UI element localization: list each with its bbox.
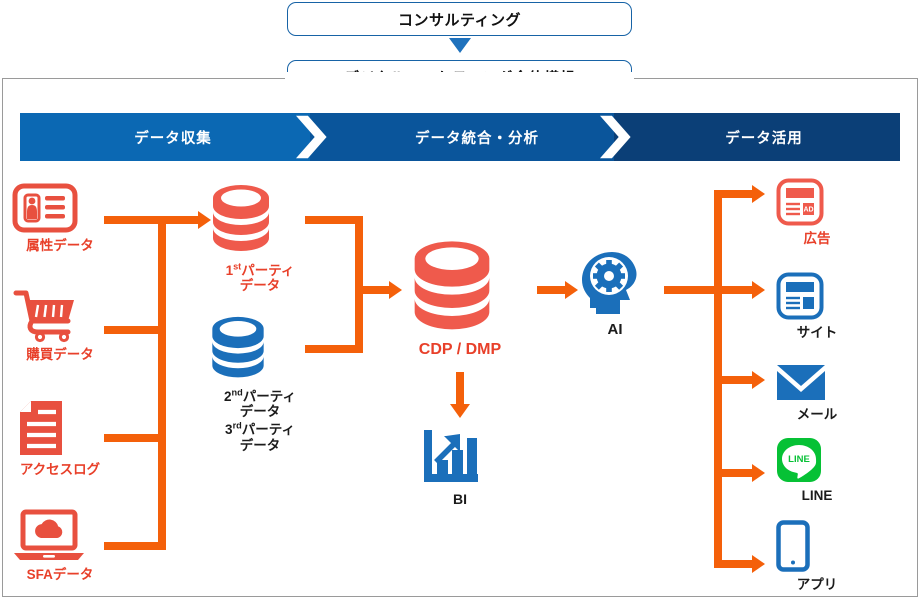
connector-sfa-stub (104, 542, 166, 550)
connector-left-bus (158, 216, 166, 550)
output-label-mail: メール (776, 407, 858, 423)
connector-purchase-stub (104, 326, 166, 334)
source-node-accesslog: アクセスログ (12, 399, 108, 478)
source-label-attribute: 属性データ (12, 238, 108, 254)
hub-node-cdp-dmp: CDP / DMP (404, 240, 516, 360)
ai-node: AI (576, 250, 654, 339)
id-card-icon (12, 183, 78, 233)
output-node-site: サイト (776, 272, 858, 341)
shopping-cart-icon (12, 288, 84, 342)
phase-banner: データ収集 データ統合・分析 データ活用 (20, 113, 900, 161)
source-label-purchase: 購買データ (12, 347, 108, 363)
store-line-2: データ (240, 404, 281, 419)
source-label-sfa: SFAデータ (12, 567, 108, 583)
store-label-2nd-3rd-party: 2ndパーティ データ 3rdパーティ データ (205, 387, 315, 454)
chevron-separator-2-icon (600, 113, 634, 161)
ad-banner-icon: AD (776, 178, 824, 226)
arrow-into-ad (752, 185, 765, 203)
output-label-app: アプリ (776, 577, 858, 593)
store-label-1st-party: 1stパーティ データ (205, 261, 315, 294)
bi-node: BI (420, 428, 500, 508)
bi-label: BI (420, 491, 500, 508)
phase-label-3: データ活用 (725, 127, 803, 148)
arrow-into-ai (565, 281, 578, 299)
output-node-app: アプリ (776, 520, 858, 593)
store-node-1st-party: 1stパーティ データ (205, 184, 315, 294)
output-node-ad: AD 広告 (776, 178, 858, 247)
smartphone-icon (776, 520, 810, 572)
arrow-into-1st-party (198, 211, 211, 229)
ai-head-gear-icon (576, 250, 650, 316)
frame-notch (285, 72, 634, 84)
connector-out-ad (714, 190, 756, 198)
source-label-accesslog: アクセスログ (12, 462, 108, 478)
line-app-icon: LINE (776, 437, 822, 483)
phase-data-integration: データ統合・分析 (310, 113, 630, 161)
phase-data-utilization: データ活用 (614, 113, 900, 161)
phase-label-2: データ統合・分析 (415, 127, 539, 148)
consulting-label: コンサルティング (398, 9, 521, 30)
connector-store-bus (355, 216, 363, 353)
arrow-into-app (752, 555, 765, 573)
connector-out-app (714, 560, 756, 568)
output-label-site: サイト (776, 325, 858, 341)
consulting-box: コンサルティング (287, 2, 632, 36)
database-cylinder-icon (205, 316, 271, 382)
arrow-into-line (752, 464, 765, 482)
database-cylinder-icon (205, 184, 277, 256)
connector-out-site (714, 286, 756, 294)
connector-hub-to-bi (456, 372, 464, 408)
arrow-into-site (752, 281, 765, 299)
store-node-2nd-3rd-party: 2ndパーティ データ 3rdパーティ データ (205, 316, 315, 454)
svg-text:LINE: LINE (788, 454, 810, 465)
output-node-line: LINE LINE (776, 437, 858, 504)
triangle-down-icon (449, 38, 471, 53)
laptop-cloud-icon (12, 510, 86, 562)
output-label-line: LINE (776, 488, 858, 504)
phase-label-1: データ収集 (134, 127, 212, 148)
store-line-1: 2ndパーティ (224, 389, 296, 404)
envelope-icon (776, 364, 826, 402)
chevron-separator-1-icon (296, 113, 330, 161)
connector-store-to-hub (355, 286, 393, 294)
connector-left-to-1st (158, 216, 202, 224)
output-label-ad: 広告 (776, 231, 858, 247)
database-cylinder-icon (404, 240, 500, 336)
store-line-1: 1stパーティ (226, 263, 295, 278)
output-node-mail: メール (776, 364, 858, 423)
hub-label: CDP / DMP (404, 341, 516, 360)
connector-attr-stub (104, 216, 166, 224)
ai-label: AI (576, 321, 654, 339)
connector-out-line (714, 469, 756, 477)
arrow-into-hub (389, 281, 402, 299)
store-line-3: 3rdパーティ (225, 422, 295, 437)
bar-chart-growth-icon (420, 428, 482, 486)
connector-accesslog-stub (104, 434, 166, 442)
connector-out-mail (714, 376, 756, 384)
source-node-sfa: SFAデータ (12, 510, 108, 583)
store-line-4: データ (240, 438, 281, 453)
svg-text:AD: AD (803, 207, 813, 214)
arrow-into-bi (450, 404, 470, 418)
phase-data-collection: データ収集 (20, 113, 326, 161)
website-icon (776, 272, 824, 320)
document-icon (12, 399, 70, 457)
source-node-purchase: 購買データ (12, 288, 108, 363)
store-line-2: データ (240, 278, 281, 293)
source-node-attribute: 属性データ (12, 183, 108, 254)
arrow-into-mail (752, 371, 765, 389)
